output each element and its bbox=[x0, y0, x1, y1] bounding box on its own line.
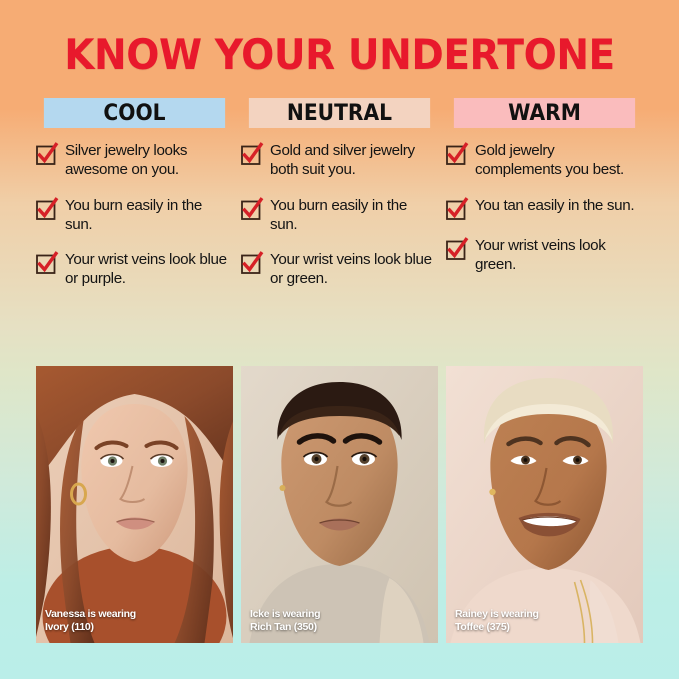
page-title: KNOW YOUR UNDERTONE bbox=[24, 0, 655, 76]
photo-caption: Vanessa is wearing Ivory (110) bbox=[45, 608, 136, 634]
list-item: You burn easily in the sun. bbox=[241, 197, 438, 235]
model-photo-vanessa: Vanessa is wearing Ivory (110) bbox=[36, 366, 233, 643]
column-header-cool: COOL bbox=[44, 98, 225, 128]
checkbox-checked-icon bbox=[36, 144, 57, 165]
checkbox-checked-icon bbox=[241, 253, 262, 274]
model-photo-icke: Icke is wearing Rich Tan (350) bbox=[241, 366, 438, 643]
checkbox-checked-icon bbox=[241, 199, 262, 220]
column-neutral: NEUTRAL Gold and silver jewelry both sui… bbox=[241, 98, 438, 306]
column-warm: WARM Gold jewelry complements you best. bbox=[446, 98, 643, 306]
list-item: Your wrist veins look blue or purple. bbox=[36, 251, 233, 289]
checkbox-checked-icon bbox=[241, 144, 262, 165]
list-item-label: Your wrist veins look green. bbox=[475, 237, 643, 275]
checklist-cool: Silver jewelry looks awesome on you. You… bbox=[36, 128, 233, 289]
list-item: Gold and silver jewelry both suit you. bbox=[241, 142, 438, 180]
portrait-illustration bbox=[36, 366, 233, 643]
column-cool: COOL Silver jewelry looks awesome on you… bbox=[36, 98, 233, 306]
list-item: Gold jewelry complements you best. bbox=[446, 142, 643, 180]
list-item-label: Gold jewelry complements you best. bbox=[475, 142, 643, 180]
checklist-neutral: Gold and silver jewelry both suit you. Y… bbox=[241, 128, 438, 289]
column-header-warm: WARM bbox=[454, 98, 635, 128]
photo-caption: Rainey is wearing Toffee (375) bbox=[455, 608, 539, 634]
checkbox-checked-icon bbox=[36, 199, 57, 220]
checklist-warm: Gold jewelry complements you best. You t… bbox=[446, 128, 643, 274]
list-item: You tan easily in the sun. bbox=[446, 197, 643, 220]
checkbox-checked-icon bbox=[446, 239, 467, 260]
list-item-label: You tan easily in the sun. bbox=[475, 197, 634, 216]
model-photo-strip: Vanessa is wearing Ivory (110) bbox=[36, 366, 643, 643]
list-item-label: Your wrist veins look blue or purple. bbox=[65, 251, 233, 289]
list-item-label: You burn easily in the sun. bbox=[65, 197, 233, 235]
list-item: You burn easily in the sun. bbox=[36, 197, 233, 235]
model-photo-rainey: Rainey is wearing Toffee (375) bbox=[446, 366, 643, 643]
list-item-label: You burn easily in the sun. bbox=[270, 197, 438, 235]
list-item-label: Gold and silver jewelry both suit you. bbox=[270, 142, 438, 180]
checkbox-checked-icon bbox=[36, 253, 57, 274]
list-item: Silver jewelry looks awesome on you. bbox=[36, 142, 233, 180]
list-item: Your wrist veins look blue or green. bbox=[241, 251, 438, 289]
list-item-label: Silver jewelry looks awesome on you. bbox=[65, 142, 233, 180]
photo-caption: Icke is wearing Rich Tan (350) bbox=[250, 608, 320, 634]
undertone-columns: COOL Silver jewelry looks awesome on you… bbox=[0, 76, 679, 306]
portrait-illustration bbox=[241, 366, 438, 643]
list-item-label: Your wrist veins look blue or green. bbox=[270, 251, 438, 289]
column-header-neutral: NEUTRAL bbox=[249, 98, 430, 128]
list-item: Your wrist veins look green. bbox=[446, 237, 643, 275]
portrait-illustration bbox=[446, 366, 643, 643]
checkbox-checked-icon bbox=[446, 144, 467, 165]
checkbox-checked-icon bbox=[446, 199, 467, 220]
